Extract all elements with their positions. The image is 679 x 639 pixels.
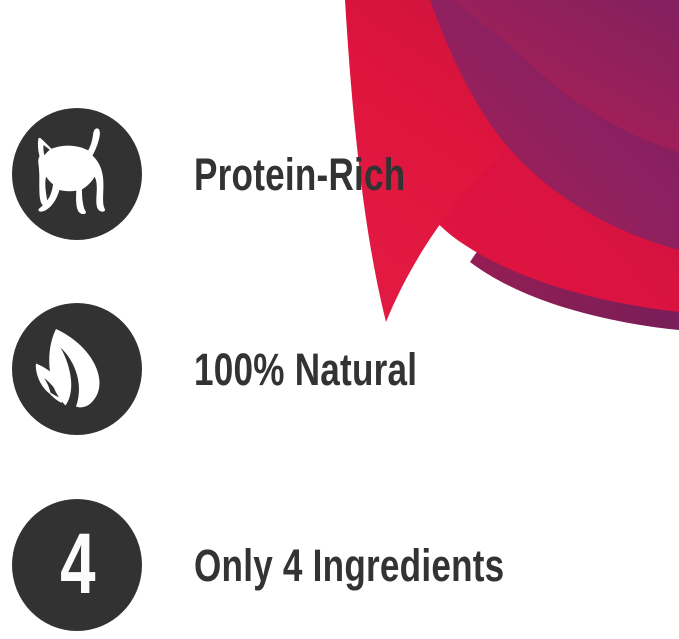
- feature-label: 100% Natural: [194, 347, 572, 392]
- leaf-badge: [12, 303, 142, 435]
- swoosh-inner-curve-mask: [321, 0, 345, 35]
- number-four-badge: 4: [12, 499, 142, 631]
- cat-badge: [12, 108, 142, 240]
- feature-row: 100% Natural: [0, 303, 679, 435]
- feature-row: 4 Only 4 Ingredients: [0, 499, 679, 631]
- feature-highlight-panel: Protein-Rich 100% Natural 4 Only 4 Ingre…: [0, 0, 679, 639]
- feature-label: Only 4 Ingredients: [194, 543, 572, 588]
- leaf-icon: [25, 317, 129, 421]
- feature-row: Protein-Rich: [0, 108, 679, 240]
- feature-label: Protein-Rich: [194, 152, 572, 197]
- number-four-icon: 4: [60, 521, 95, 607]
- cat-icon: [25, 122, 129, 226]
